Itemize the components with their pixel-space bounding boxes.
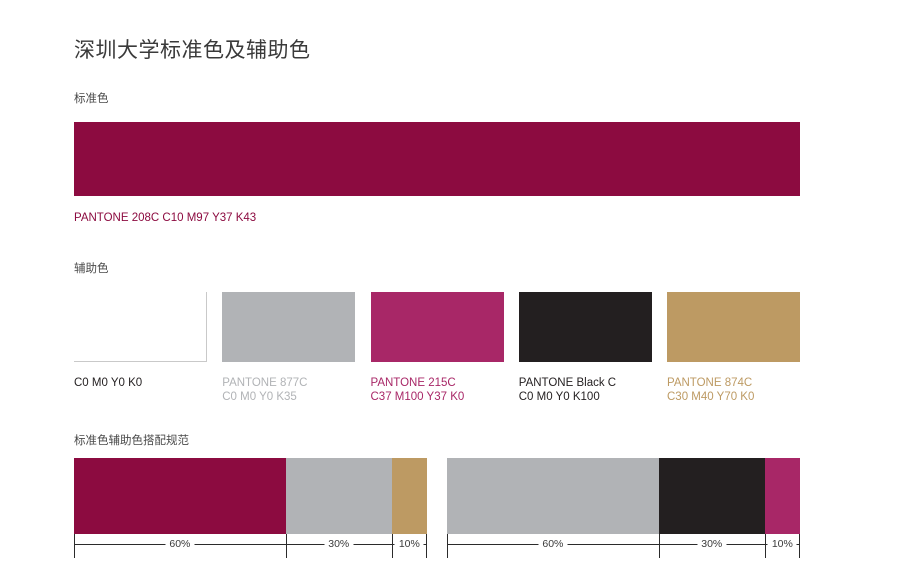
- auxiliary-color-swatch: [371, 292, 504, 362]
- measure-tick: [426, 534, 427, 558]
- standard-color-swatch: [74, 122, 800, 196]
- auxiliary-color-caption: PANTONE 874CC30 M40 Y70 K0: [667, 376, 754, 404]
- measure-tick: [447, 534, 448, 558]
- pairing-bar-segment: [392, 458, 427, 534]
- measure-tick: [74, 534, 75, 558]
- pairing-bar: [74, 458, 427, 534]
- measure-tick: [799, 534, 800, 558]
- measure-rule: [447, 544, 800, 545]
- auxiliary-color-cmyk: C30 M40 Y70 K0: [667, 390, 754, 404]
- pairing-bar: [447, 458, 800, 534]
- section-label-pairing-spec: 标准色辅助色搭配规范: [74, 432, 189, 448]
- auxiliary-color-caption: PANTONE 215CC37 M100 Y37 K0: [371, 376, 465, 404]
- measure-percent-label: 60%: [538, 536, 567, 552]
- auxiliary-color-pantone: PANTONE Black C: [519, 376, 616, 390]
- pairing-bar-segment: [659, 458, 765, 534]
- section-label-standard-color: 标准色: [74, 90, 109, 106]
- auxiliary-color-swatch: [667, 292, 800, 362]
- auxiliary-color-cmyk: C37 M100 Y37 K0: [371, 390, 465, 404]
- auxiliary-color-cmyk: C0 M0 Y0 K0: [74, 376, 142, 390]
- auxiliary-color-pantone: PANTONE 874C: [667, 376, 754, 390]
- measure-tick: [765, 534, 766, 558]
- auxiliary-color-caption: C0 M0 Y0 K0: [74, 376, 142, 390]
- measure-tick: [286, 534, 287, 558]
- measure-percent-label: 30%: [324, 536, 353, 552]
- pairing-measure-line: 60%30%10%: [74, 534, 427, 558]
- measure-percent-label: 10%: [395, 536, 424, 552]
- measure-percent-label: 10%: [768, 536, 797, 552]
- pairing-bar-segment: [447, 458, 659, 534]
- page-title: 深圳大学标准色及辅助色: [74, 34, 311, 64]
- pairing-group: 60%30%10%: [74, 458, 427, 558]
- measure-percent-label: 30%: [697, 536, 726, 552]
- pairing-bar-segment: [765, 458, 800, 534]
- measure-tick: [392, 534, 393, 558]
- measure-rule: [74, 544, 427, 545]
- auxiliary-color-pantone: PANTONE 215C: [371, 376, 465, 390]
- auxiliary-color-cmyk: C0 M0 Y0 K100: [519, 390, 616, 404]
- auxiliary-color-caption: PANTONE 877CC0 M0 Y0 K35: [222, 376, 307, 404]
- auxiliary-color-pantone: PANTONE 877C: [222, 376, 307, 390]
- pairing-group: 60%30%10%: [447, 458, 800, 558]
- auxiliary-color-swatch: [74, 292, 207, 362]
- auxiliary-swatch-row: [74, 292, 800, 362]
- auxiliary-caption-row: C0 M0 Y0 K0PANTONE 877CC0 M0 Y0 K35PANTO…: [74, 376, 800, 408]
- auxiliary-color-swatch: [222, 292, 355, 362]
- section-label-auxiliary-color: 辅助色: [74, 260, 109, 276]
- measure-tick: [659, 534, 660, 558]
- auxiliary-color-caption: PANTONE Black CC0 M0 Y0 K100: [519, 376, 616, 404]
- standard-color-cmyk: C10 M97 Y37 K43: [162, 212, 256, 224]
- pairing-bar-segment: [74, 458, 286, 534]
- standard-color-caption: PANTONE 208C C10 M97 Y37 K43: [74, 211, 256, 225]
- measure-percent-label: 60%: [165, 536, 194, 552]
- color-specification-page: 深圳大学标准色及辅助色 标准色 PANTONE 208C C10 M97 Y37…: [0, 0, 900, 580]
- auxiliary-color-swatch: [519, 292, 652, 362]
- pairing-bar-segment: [286, 458, 392, 534]
- auxiliary-color-cmyk: C0 M0 Y0 K35: [222, 390, 307, 404]
- pairing-measure-line: 60%30%10%: [447, 534, 800, 558]
- standard-color-pantone: PANTONE 208C: [74, 212, 159, 224]
